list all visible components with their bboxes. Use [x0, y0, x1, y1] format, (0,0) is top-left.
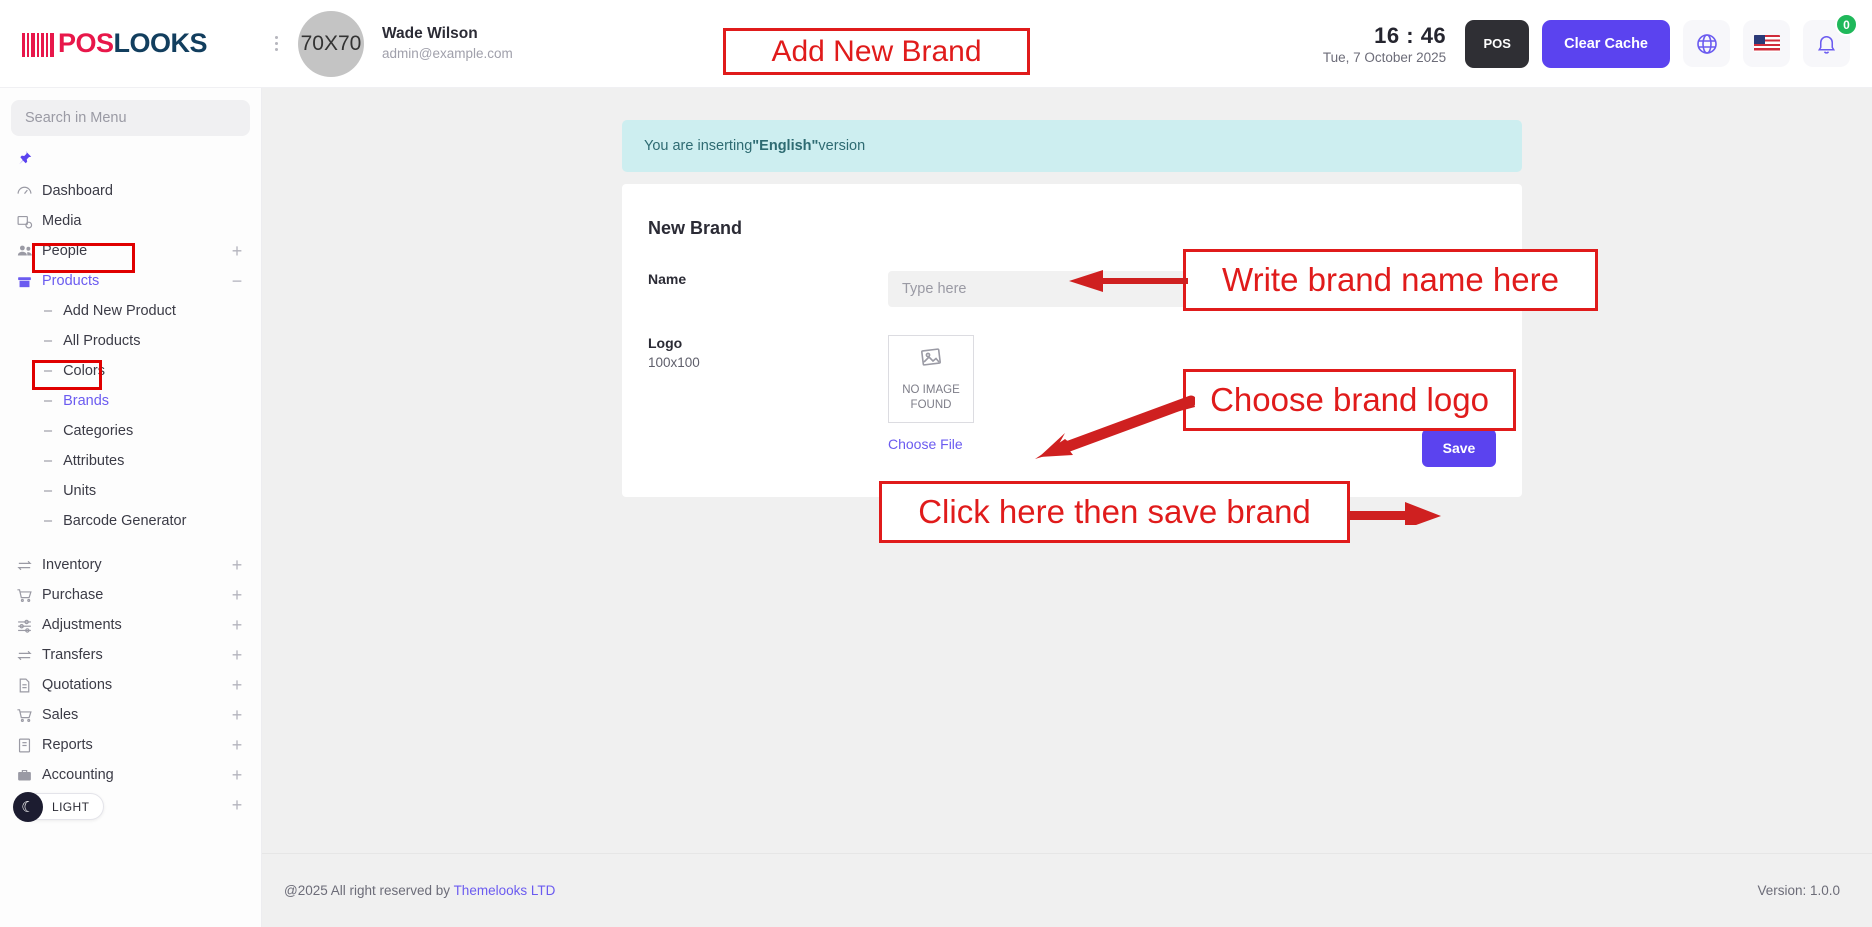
cart-icon [16, 707, 42, 724]
language-version-alert: You are inserting "English" version [622, 120, 1522, 172]
sliders-icon [16, 617, 42, 634]
sidebar-toggle: + [229, 616, 245, 634]
annotation-logo-hint: Choose brand logo [1183, 369, 1516, 431]
name-label-group: Name [648, 271, 888, 287]
sidebar-item-inventory[interactable]: Inventory + [0, 550, 261, 580]
bell-icon [1815, 32, 1838, 55]
dash-icon: – [44, 303, 52, 319]
sidebar-toggle: + [229, 736, 245, 754]
search-input[interactable] [11, 100, 250, 136]
sidebar-item-quotations[interactable]: Quotations + [0, 670, 261, 700]
moon-icon: ☾ [13, 792, 43, 822]
annotation-arrow-save [1347, 497, 1447, 525]
clear-cache-button[interactable]: Clear Cache [1542, 20, 1670, 68]
sidebar-item-label: Transfers [42, 647, 229, 663]
sidebar-toggle: + [229, 796, 245, 814]
sidebar-item-media[interactable]: Media [0, 206, 261, 236]
sidebar-menu: Dashboard Media People + [0, 176, 261, 820]
sidebar-subitem-label: Add New Product [63, 303, 176, 319]
sidebar-toggle: + [229, 556, 245, 574]
logo-size-hint: 100x100 [648, 355, 888, 370]
dash-icon: – [44, 513, 52, 529]
sidebar-item-label: Quotations [42, 677, 229, 693]
dash-icon: – [44, 363, 52, 379]
sidebar-toggle: + [229, 706, 245, 724]
user-info: Wade Wilson admin@example.com [382, 24, 513, 63]
user-name: Wade Wilson [382, 24, 513, 45]
sidebar-subitem-units[interactable]: – Units [0, 476, 261, 506]
save-button[interactable]: Save [1422, 429, 1496, 467]
menu-spacer [0, 536, 261, 550]
clock-date: Tue, 7 October 2025 [1323, 50, 1446, 65]
sidebar-toggle: + [229, 242, 245, 260]
exchange-icon [16, 647, 42, 664]
cart-icon [16, 587, 42, 604]
barcode-icon [22, 31, 56, 57]
dash-icon: – [44, 333, 52, 349]
sidebar-subitem-colors[interactable]: – Colors [0, 356, 261, 386]
sidebar-item-dashboard[interactable]: Dashboard [0, 176, 261, 206]
sidebar-subitem-attributes[interactable]: – Attributes [0, 446, 261, 476]
sidebar-subitem-all-products[interactable]: – All Products [0, 326, 261, 356]
alert-suffix: version [818, 138, 865, 154]
sidebar-item-label: Media [42, 213, 229, 229]
logo-pos-text: POS [58, 28, 114, 59]
dash-icon: – [44, 483, 52, 499]
footer-copyright: @2025 All right reserved by Themelooks L… [284, 883, 555, 898]
company-link[interactable]: Themelooks LTD [454, 883, 556, 898]
people-icon [16, 242, 42, 260]
copyright-text: @2025 All right reserved by [284, 883, 454, 898]
sidebar-kebab-menu-icon[interactable] [262, 0, 290, 88]
annotation-name-hint: Write brand name here [1183, 249, 1598, 311]
sidebar-item-label: Dashboard [42, 183, 229, 199]
sidebar-item-products[interactable]: Products − [0, 266, 261, 296]
clock-time: 16 : 46 [1323, 23, 1446, 49]
thumb-text-line2: FOUND [911, 399, 952, 411]
sidebar-item-label: Reports [42, 737, 229, 753]
sidebar-toggle: + [229, 586, 245, 604]
sidebar-subitem-add-new-product[interactable]: – Add New Product [0, 296, 261, 326]
sidebar-item-label: Accounting [42, 767, 229, 783]
sidebar-subitem-label: Units [63, 483, 96, 499]
sidebar-subitem-barcode-generator[interactable]: – Barcode Generator [0, 506, 261, 536]
products-submenu: – Add New Product – All Products – Color… [0, 296, 261, 536]
sidebar-item-people[interactable]: People + [0, 236, 261, 266]
country-flag-button[interactable] [1743, 20, 1790, 67]
user-email: admin@example.com [382, 45, 513, 63]
name-label: Name [648, 271, 888, 287]
sidebar-subitem-label: Attributes [63, 453, 124, 469]
theme-toggle-label: LIGHT [52, 800, 89, 814]
logo-label-group: Logo 100x100 [648, 335, 888, 370]
page-title: New Brand [622, 184, 1522, 239]
logo-thumbnail: NO IMAGE FOUND [888, 335, 974, 423]
sidebar-toggle: − [229, 272, 245, 290]
sidebar-subitem-categories[interactable]: – Categories [0, 416, 261, 446]
sidebar-item-transfers[interactable]: Transfers + [0, 640, 261, 670]
sidebar-subitem-label: All Products [63, 333, 140, 349]
sidebar-subitem-label: Brands [63, 393, 109, 409]
exchange-icon [16, 557, 42, 574]
alert-language: "English" [752, 138, 818, 154]
notifications-button[interactable]: 0 [1803, 20, 1850, 67]
pin-icon [16, 150, 33, 167]
choose-file-link[interactable]: Choose File [888, 436, 963, 452]
language-globe-button[interactable] [1683, 20, 1730, 67]
sidebar-item-reports[interactable]: Reports + [0, 730, 261, 760]
clock: 16 : 46 Tue, 7 October 2025 [1323, 23, 1446, 65]
image-placeholder-icon [918, 346, 944, 375]
sidebar-toggle: + [229, 646, 245, 664]
topbar-actions: 16 : 46 Tue, 7 October 2025 POS Clear Ca… [1323, 20, 1872, 68]
sidebar-toggle: + [229, 676, 245, 694]
save-button-wrap: Save [1422, 429, 1496, 467]
sidebar-pin-row[interactable] [0, 140, 261, 176]
content-area: You are inserting "English" version New … [262, 88, 1872, 853]
sidebar-item-label: People [42, 243, 229, 259]
sidebar-item-label: Adjustments [42, 617, 229, 633]
alert-prefix: You are inserting [644, 138, 752, 154]
footer: @2025 All right reserved by Themelooks L… [262, 853, 1872, 927]
avatar[interactable]: 70X70 [298, 11, 364, 77]
dash-icon: – [44, 453, 52, 469]
media-icon [16, 213, 42, 230]
logo-upload-group: NO IMAGE FOUND Choose File [888, 335, 974, 454]
sidebar-subitem-label: Barcode Generator [63, 513, 186, 529]
gauge-icon [16, 183, 42, 200]
sidebar-item-purchase[interactable]: Purchase + [0, 580, 261, 610]
sidebar-subitem-label: Colors [63, 363, 105, 379]
products-icon [16, 273, 42, 290]
sidebar-item-label: Sales [42, 707, 229, 723]
briefcase-icon [16, 767, 42, 784]
sidebar: Dashboard Media People + [0, 88, 262, 927]
footer-version: Version: 1.0.0 [1757, 883, 1840, 898]
sidebar-subitem-label: Categories [63, 423, 133, 439]
sidebar-search-wrap [0, 88, 261, 140]
us-flag-icon [1754, 35, 1780, 52]
annotation-arrow-name [1063, 268, 1188, 294]
sidebar-item-label: Purchase [42, 587, 229, 603]
globe-icon [1695, 32, 1719, 56]
dash-icon: – [44, 423, 52, 439]
pos-button[interactable]: POS [1465, 20, 1529, 68]
sidebar-item-label: Inventory [42, 557, 229, 573]
annotation-title: Add New Brand [723, 28, 1030, 75]
logo-looks-text: LOOKS [114, 28, 208, 59]
document-icon [16, 677, 42, 694]
app-logo[interactable]: POSLOOKS [0, 0, 262, 88]
sidebar-toggle: + [229, 766, 245, 784]
sidebar-item-accounting[interactable]: Accounting + [0, 760, 261, 790]
theme-toggle[interactable]: ☾ LIGHT [14, 793, 104, 820]
annotation-arrow-logo [995, 395, 1195, 467]
notification-count-badge: 0 [1835, 13, 1858, 36]
report-icon [16, 737, 42, 754]
dash-icon: – [44, 393, 52, 409]
annotation-save-hint: Click here then save brand [879, 481, 1350, 543]
logo-label: Logo [648, 335, 888, 351]
thumb-text-line1: NO IMAGE [902, 384, 960, 396]
app-root: POSLOOKS 70X70 Wade Wilson admin@example… [0, 0, 1872, 927]
sidebar-item-adjustments[interactable]: Adjustments + [0, 610, 261, 640]
sidebar-item-label: Products [42, 273, 229, 289]
sidebar-item-sales[interactable]: Sales + [0, 700, 261, 730]
sidebar-subitem-brands[interactable]: – Brands [0, 386, 261, 416]
